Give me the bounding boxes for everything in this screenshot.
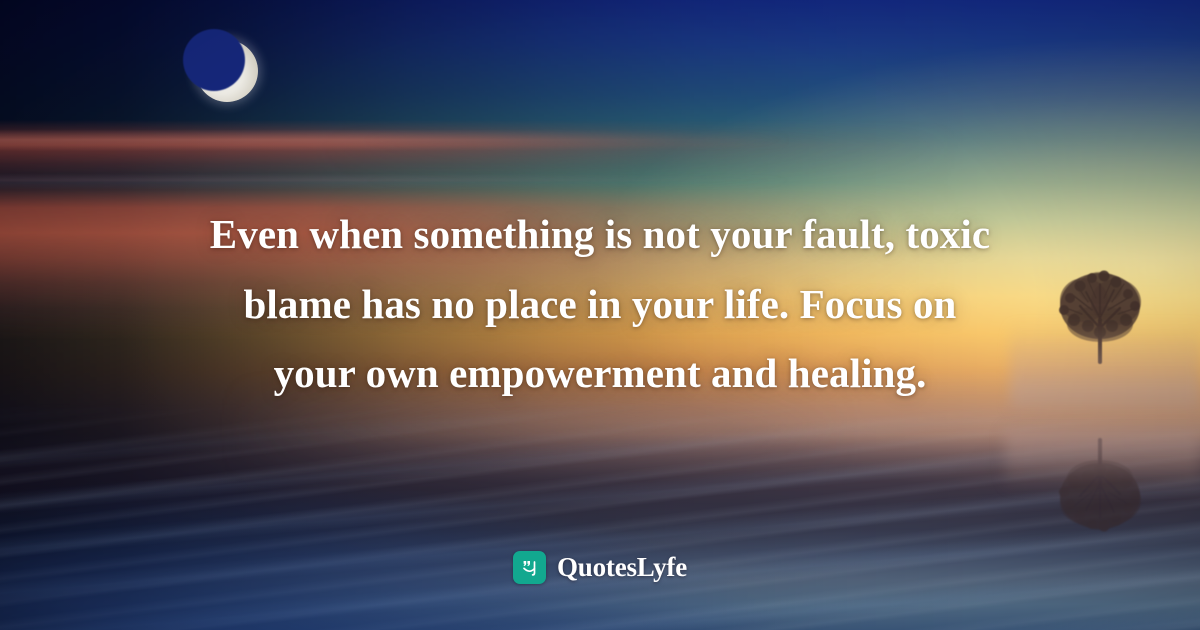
quote-line: your own empowerment and healing. — [104, 339, 1096, 409]
logo-wordmark: QuotesLyfe — [557, 552, 687, 583]
quote-line: blame has no place in your life. Focus o… — [104, 270, 1096, 340]
quote-line: Even when something is not your fault, t… — [104, 200, 1096, 270]
quote-card: Even when something is not your fault, t… — [0, 0, 1200, 630]
quote-smiley-icon — [513, 551, 546, 584]
quote-text: Even when something is not your fault, t… — [0, 200, 1200, 409]
quoteslyfe-logo[interactable]: QuotesLyfe — [0, 551, 1200, 584]
